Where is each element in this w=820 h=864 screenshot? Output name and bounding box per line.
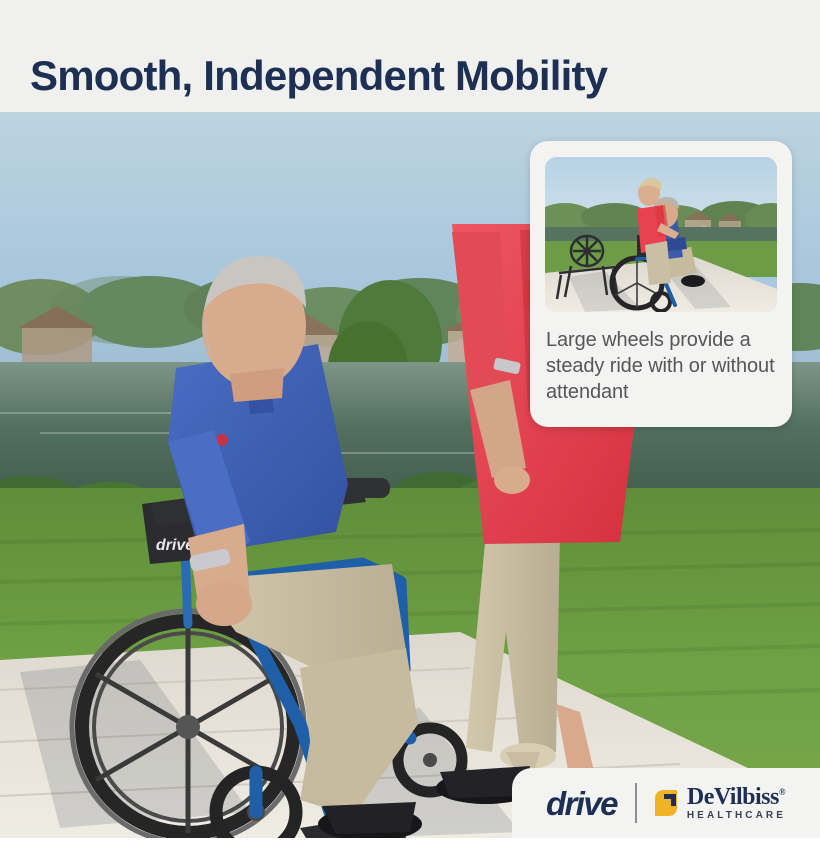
callout-photo — [545, 157, 777, 312]
devilbiss-name-text: DeVilbiss — [687, 784, 779, 810]
devilbiss-name: DeVilbiss® — [687, 785, 786, 809]
drive-wordmark: drive — [546, 787, 619, 820]
devilbiss-lockup: DeVilbiss® HEALTHCARE — [651, 785, 786, 821]
devilbiss-trademark: ® — [779, 787, 785, 797]
page-title: Smooth, Independent Mobility — [30, 55, 607, 97]
logo-divider — [635, 783, 637, 823]
devilbiss-text-block: DeVilbiss® HEALTHCARE — [687, 785, 786, 821]
callout-card: Large wheels provide a steady ride with … — [530, 141, 792, 427]
callout-illustration — [545, 157, 777, 312]
footer-strip — [0, 838, 820, 864]
devilbiss-subtitle: HEALTHCARE — [687, 811, 786, 821]
devilbiss-mark-icon — [651, 788, 681, 818]
callout-caption: Large wheels provide a steady ride with … — [546, 327, 784, 405]
brand-logo-bar: drive DeVilbiss® HEALTHCARE — [512, 768, 820, 838]
marketing-banner: Smooth, Independent Mobility — [0, 0, 820, 864]
